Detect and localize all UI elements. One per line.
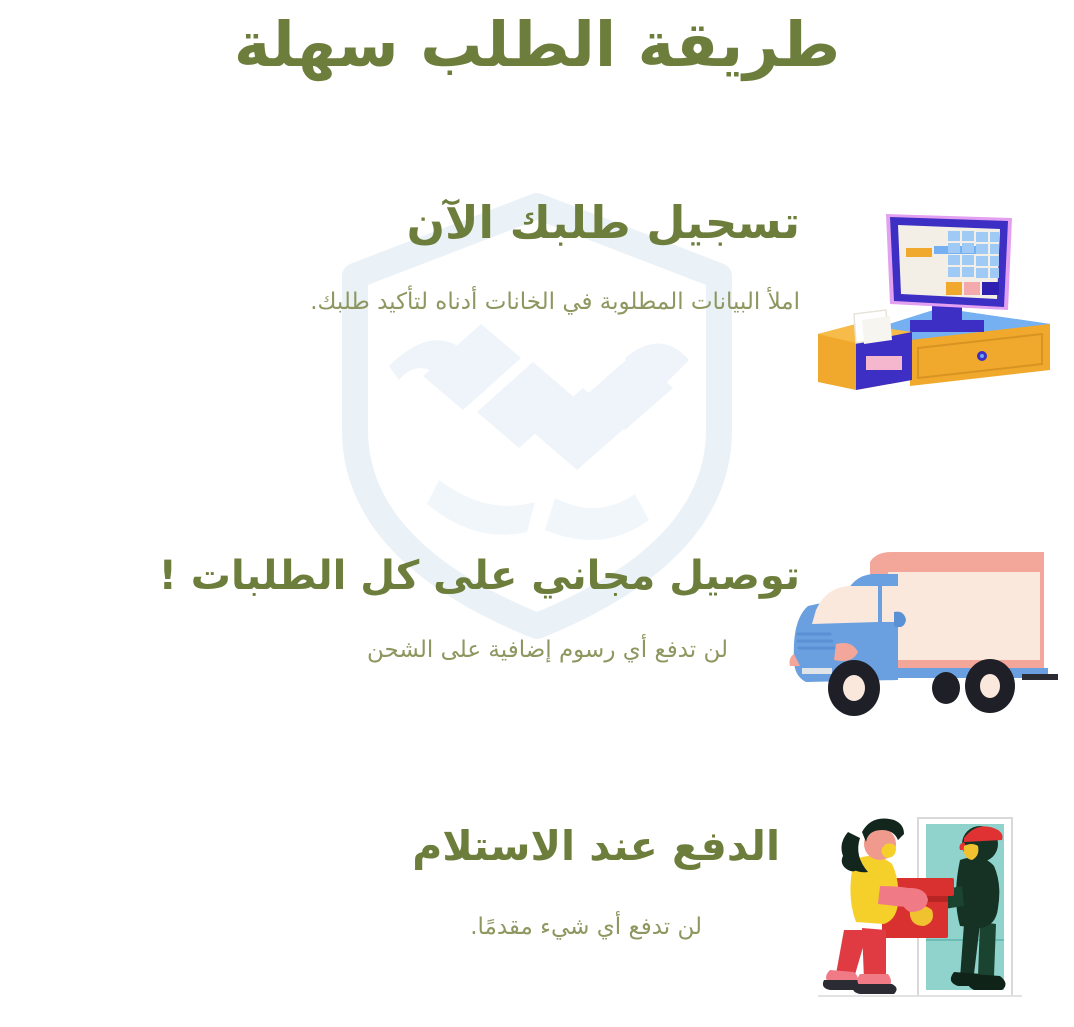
feature-subtitle-order: املأ البيانات المطلوبة في الخانات أدناه … — [310, 286, 800, 318]
feature-row-order: تسجيل طلبك الآن املأ البيانات المطلوبة ف… — [280, 196, 800, 318]
feature-text-cod: الدفع عند الاستلام لن تدفع أي شيء مقدمًا… — [290, 822, 780, 943]
delivery-truck-illustration — [786, 548, 1058, 720]
feature-subtitle-cod: لن تدفع أي شيء مقدمًا. — [470, 911, 702, 943]
feature-heading-delivery: توصيل مجاني على كل الطلبات ! — [159, 552, 800, 600]
feature-row-cod: الدفع عند الاستلام لن تدفع أي شيء مقدمًا… — [290, 822, 780, 943]
feature-row-delivery: توصيل مجاني على كل الطلبات ! لن تدفع أي … — [140, 552, 800, 666]
page-title: طريقة الطلب سهلة — [0, 6, 1074, 84]
feature-heading-order: تسجيل طلبك الآن — [407, 196, 800, 250]
feature-subtitle-delivery: لن تدفع أي رسوم إضافية على الشحن — [367, 634, 728, 666]
feature-heading-cod: الدفع عند الاستلام — [412, 822, 780, 871]
package-handoff-illustration — [814, 812, 1026, 1017]
feature-text-delivery: توصيل مجاني على كل الطلبات ! لن تدفع أي … — [140, 552, 800, 666]
computer-desk-illustration — [812, 204, 1058, 396]
feature-text-order: تسجيل طلبك الآن املأ البيانات المطلوبة ف… — [280, 196, 800, 318]
